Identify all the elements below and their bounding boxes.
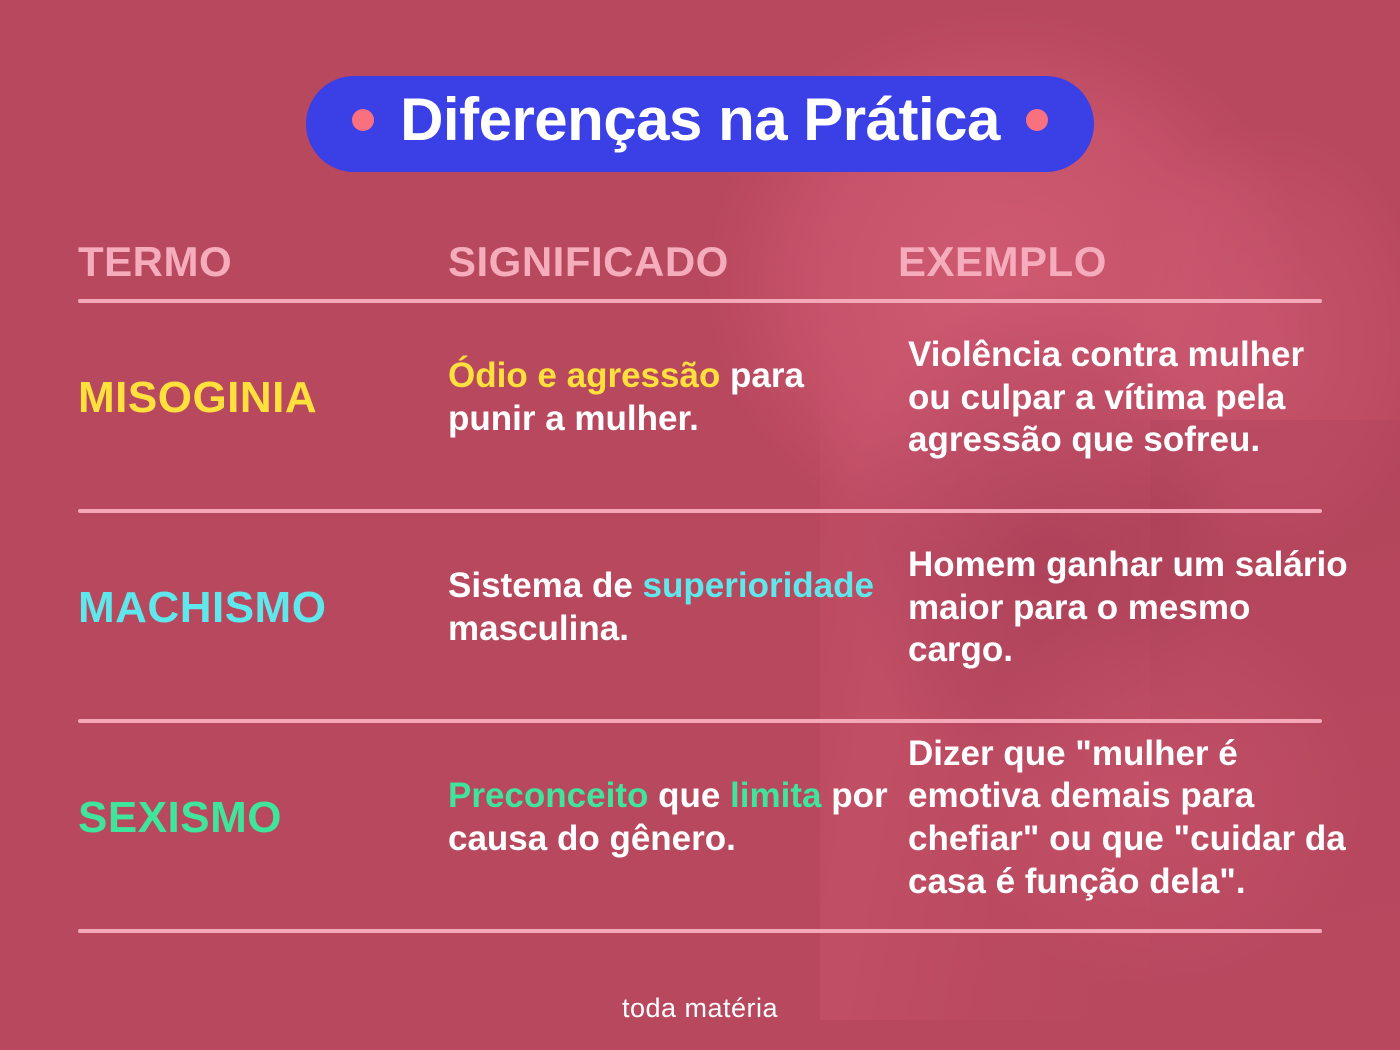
- column-header-exemplo: EXEMPLO: [898, 241, 1338, 283]
- table-header-row: TERMO SIGNIFICADO EXEMPLO: [78, 205, 1322, 283]
- divider-row-3: [78, 929, 1322, 933]
- footer: toda matéria: [0, 995, 1400, 1022]
- example-machismo: Homem ganhar um salário maior para o mes…: [908, 544, 1348, 672]
- bullet-dot-left-icon: [352, 109, 374, 131]
- meaning-sexismo: Preconceito que limita por causa do gêne…: [448, 775, 908, 860]
- brand-logo-part1: toda: [622, 993, 685, 1023]
- bullet-dot-right-icon: [1026, 109, 1048, 131]
- meaning-mid: que: [648, 776, 730, 815]
- infographic-canvas: Diferenças na Prática TERMO SIGNIFICADO …: [0, 0, 1400, 1050]
- comparison-table: TERMO SIGNIFICADO EXEMPLO MISOGINIA Ódio…: [78, 205, 1322, 933]
- meaning-highlight: Preconceito: [448, 776, 648, 815]
- meaning-prefix: Sistema de: [448, 566, 643, 605]
- table-row: SEXISMO Preconceito que limita por causa…: [78, 723, 1322, 913]
- title-banner: Diferenças na Prática: [0, 76, 1400, 172]
- example-misoginia: Violência contra mulher ou culpar a víti…: [908, 334, 1348, 462]
- meaning-highlight-2: limita: [730, 776, 821, 815]
- meaning-misoginia: Ódio e agressão para punir a mulher.: [448, 355, 908, 440]
- brand-logo: toda matéria: [622, 995, 778, 1022]
- table-row: MACHISMO Sistema de superioridade mascul…: [78, 513, 1322, 703]
- column-header-significado: SIGNIFICADO: [448, 241, 898, 283]
- term-sexismo: SEXISMO: [78, 795, 448, 841]
- brand-logo-part2: matéria: [685, 993, 779, 1023]
- meaning-highlight: superioridade: [643, 566, 874, 605]
- meaning-highlight: Ódio e agressão: [448, 356, 720, 395]
- page-title: Diferenças na Prática: [400, 90, 1000, 150]
- column-header-termo: TERMO: [78, 241, 448, 283]
- title-pill: Diferenças na Prática: [306, 76, 1094, 172]
- term-machismo: MACHISMO: [78, 585, 448, 631]
- example-sexismo: Dizer que "mulher é emotiva demais para …: [908, 733, 1348, 904]
- table-row: MISOGINIA Ódio e agressão para punir a m…: [78, 303, 1322, 493]
- term-misoginia: MISOGINIA: [78, 375, 448, 421]
- meaning-rest: masculina.: [448, 609, 629, 648]
- meaning-machismo: Sistema de superioridade masculina.: [448, 565, 908, 650]
